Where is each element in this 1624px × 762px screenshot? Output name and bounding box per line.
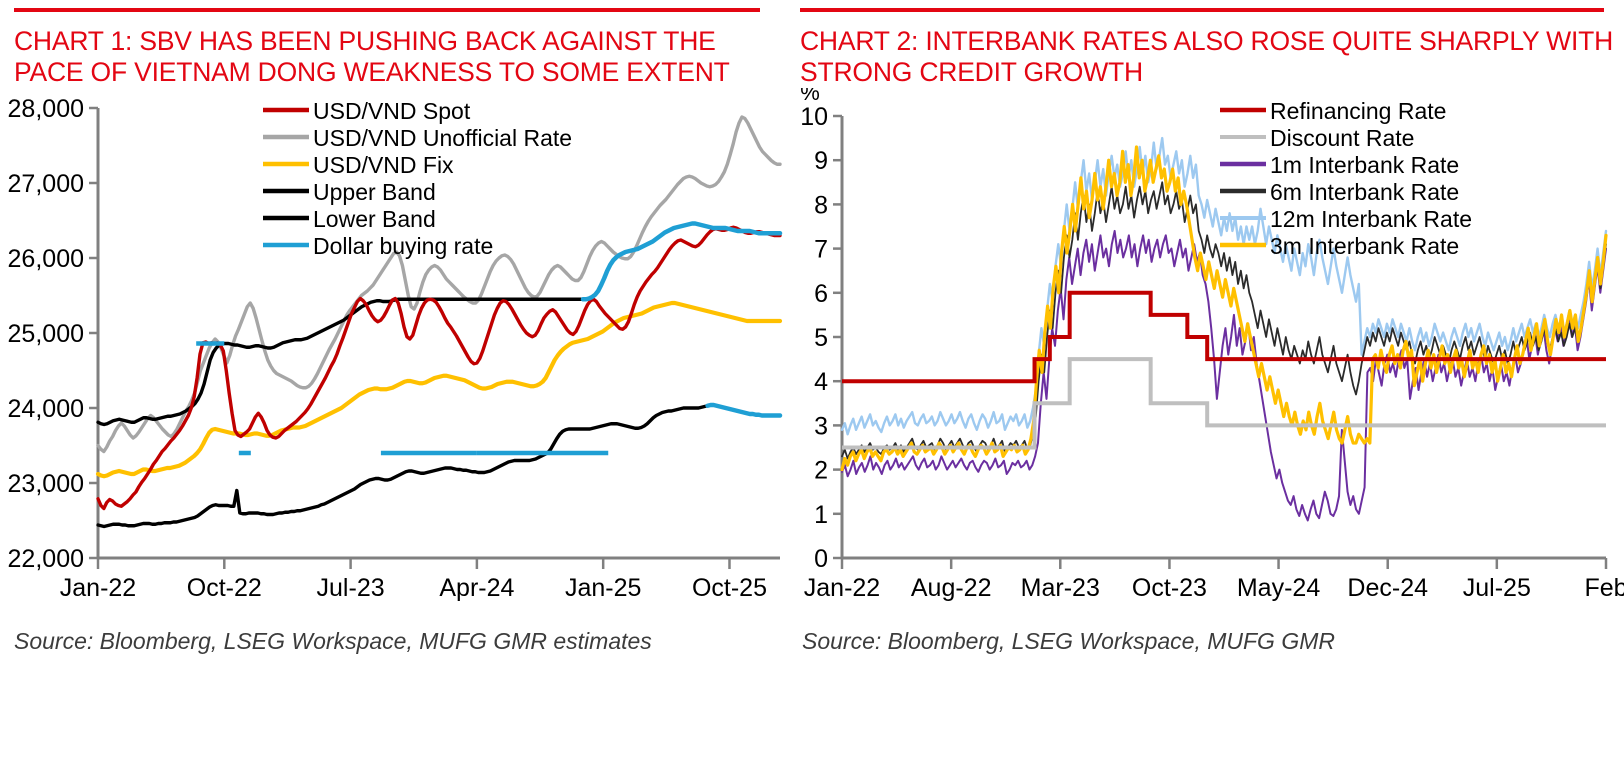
- series-dollar-buying-rate-lower-track: [708, 405, 780, 416]
- legend-label: Refinancing Rate: [1270, 98, 1446, 124]
- y-tick-label: 6: [814, 280, 828, 308]
- x-tick-label: Oct-22: [187, 574, 262, 602]
- legend-label: USD/VND Spot: [313, 98, 471, 124]
- x-tick-label: Mar-23: [1021, 574, 1100, 602]
- chart1-top-rule: [14, 8, 760, 12]
- legend-label: Upper Band: [313, 179, 436, 205]
- chart2-source: Source: Bloomberg, LSEG Workspace, MUFG …: [790, 628, 1624, 655]
- legend-label: USD/VND Fix: [313, 152, 454, 178]
- x-tick-label: Feb: [1584, 574, 1624, 602]
- x-tick-label: Oct-25: [692, 574, 767, 602]
- legend-label: 12m Interbank Rate: [1270, 206, 1472, 232]
- chart2-panel: CHART 2: INTERBANK RATES ALSO ROSE QUITE…: [790, 0, 1624, 762]
- y-tick-label: 25,000: [8, 320, 84, 348]
- y-tick-label: 23,000: [8, 470, 84, 498]
- unit-label: %: [800, 88, 820, 105]
- y-tick-label: 3: [814, 412, 828, 440]
- series-group: [842, 138, 1606, 520]
- legend-label: USD/VND Unofficial Rate: [313, 125, 572, 151]
- series-group: [98, 117, 780, 527]
- series-lower-band: [98, 405, 780, 527]
- legend-label: Discount Rate: [1270, 125, 1414, 151]
- legend-label: 6m Interbank Rate: [1270, 179, 1459, 205]
- x-tick-label: Jul-25: [1463, 574, 1531, 602]
- y-tick-label: 9: [814, 147, 828, 175]
- legend-label: Lower Band: [313, 206, 436, 232]
- x-tick-label: Jan-22: [804, 574, 880, 602]
- chart2-title: CHART 2: INTERBANK RATES ALSO ROSE QUITE…: [790, 26, 1624, 88]
- series-1m-interbank-rate: [842, 231, 1606, 521]
- y-tick-label: 5: [814, 324, 828, 352]
- y-tick-label: 22,000: [8, 545, 84, 573]
- y-tick-label: 10: [800, 103, 828, 131]
- chart1-panel: CHART 1: SBV HAS BEEN PUSHING BACK AGAIN…: [0, 0, 790, 762]
- x-tick-label: Apr-24: [439, 574, 514, 602]
- x-tick-label: Dec-24: [1347, 574, 1428, 602]
- x-tick-label: Jan-25: [565, 574, 641, 602]
- y-tick-label: 24,000: [8, 395, 84, 423]
- x-tick-label: Jul-23: [317, 574, 385, 602]
- chart1-title: CHART 1: SBV HAS BEEN PUSHING BACK AGAIN…: [0, 26, 776, 88]
- legend-label: 1m Interbank Rate: [1270, 152, 1459, 178]
- y-tick-label: 28,000: [8, 95, 84, 123]
- y-tick-label: 26,000: [8, 245, 84, 273]
- chart-page: CHART 1: SBV HAS BEEN PUSHING BACK AGAIN…: [0, 0, 1624, 762]
- chart2-top-rule: [800, 8, 1604, 12]
- y-tick-label: 7: [814, 236, 828, 264]
- y-tick-label: 27,000: [8, 170, 84, 198]
- chart1-plot-wrap: 22,00023,00024,00025,00026,00027,00028,0…: [0, 88, 776, 628]
- legend-label: 3m Interbank Rate: [1270, 233, 1459, 259]
- x-tick-label: Aug-22: [911, 574, 992, 602]
- chart1-source: Source: Bloomberg, LSEG Workspace, MUFG …: [0, 628, 776, 655]
- y-tick-label: 1: [814, 501, 828, 529]
- y-tick-label: 0: [814, 545, 828, 573]
- chart1-svg: 22,00023,00024,00025,00026,00027,00028,0…: [0, 88, 790, 628]
- chart2-plot-wrap: 012345678910Jan-22Aug-22Mar-23Oct-23May-…: [790, 88, 1624, 628]
- x-tick-label: Jan-22: [60, 574, 136, 602]
- x-tick-label: Oct-23: [1132, 574, 1207, 602]
- y-tick-label: 2: [814, 457, 828, 485]
- legend: USD/VND SpotUSD/VND Unofficial RateUSD/V…: [263, 98, 572, 259]
- legend-label: Dollar buying rate: [313, 233, 493, 259]
- y-tick-label: 8: [814, 191, 828, 219]
- chart2-svg: 012345678910Jan-22Aug-22Mar-23Oct-23May-…: [790, 88, 1624, 628]
- y-tick-label: 4: [814, 368, 828, 396]
- series-usd-vnd-fix: [98, 303, 780, 476]
- x-tick-label: May-24: [1237, 574, 1320, 602]
